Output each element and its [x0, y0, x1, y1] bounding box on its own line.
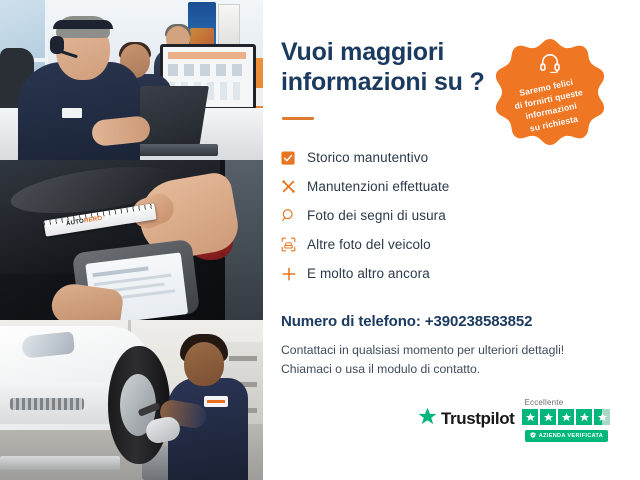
contact-description-line-1: Contattaci in qualsiasi momento per ulte…	[281, 341, 581, 360]
contact-description-line-2: Chiamaci o usa il modulo di contatto.	[281, 360, 581, 379]
trustpilot-star-icon	[418, 407, 437, 431]
photo1-monitor-row-1	[168, 64, 246, 76]
trustpilot-rating: Eccellente	[522, 398, 610, 442]
trustpilot-star-1	[522, 409, 538, 425]
title-divider	[282, 117, 314, 120]
page-title: Vuoi maggiori informazioni su ?	[281, 38, 511, 97]
page-title-line-2: informazioni su ?	[281, 68, 511, 98]
request-info-badge: Saremo felici di fornirti queste informa…	[495, 37, 605, 147]
photo-column: AUTOHERO	[0, 0, 263, 480]
ruler-logo-auto: AUTO	[66, 219, 85, 228]
feature-list: Storico manutentivo Manutenzioni effettu…	[281, 143, 531, 288]
technician-wheel-inspection-photo	[0, 320, 263, 480]
feature-item-molto-altro: E molto altro ancora	[281, 259, 531, 288]
feature-label: Manutenzioni effettuate	[307, 179, 449, 194]
photo1-agent-headset-band	[53, 20, 113, 29]
photo3-shelf-line-1	[229, 356, 257, 361]
checkbox-checked-icon	[281, 151, 307, 165]
trustpilot-star-5-half	[594, 409, 610, 425]
plus-icon	[281, 266, 307, 282]
verified-label: AZIENDA VERIFICATA	[539, 433, 603, 439]
feature-item-foto-segni-usura: Foto dei segni di usura	[281, 201, 531, 230]
autohero-ruler-inspection-photo: AUTOHERO	[0, 160, 263, 320]
feature-item-manutenzioni-effettuate: Manutenzioni effettuate	[281, 172, 531, 201]
headset-icon	[539, 53, 561, 78]
photo3-technician-logo	[204, 396, 228, 407]
photo3-lift-ramp	[0, 456, 120, 470]
tools-wrench-screwdriver-icon	[281, 179, 307, 194]
feature-item-storico-manutentivo: Storico manutentivo	[281, 143, 531, 172]
promo-banner: AUTOHERO	[0, 0, 640, 480]
trustpilot-stars	[522, 409, 610, 425]
trustpilot-logo: Trustpilot	[418, 407, 514, 431]
trustpilot-widget[interactable]: Trustpilot Eccellente	[418, 398, 610, 442]
content-panel: Vuoi maggiori informazioni su ? Saremo f…	[263, 0, 640, 480]
verified-shield-icon	[530, 432, 536, 440]
trustpilot-star-3	[558, 409, 574, 425]
trustpilot-wordmark: Trustpilot	[441, 409, 514, 429]
photo3-technician-head	[184, 342, 224, 386]
feature-label: E molto altro ancora	[307, 266, 430, 281]
trustpilot-rating-label: Eccellente	[524, 398, 563, 407]
status-badge: AZIENDA VERIFICATA	[525, 430, 608, 442]
magnifier-icon	[281, 208, 307, 223]
trustpilot-star-2	[540, 409, 556, 425]
phone-number-label[interactable]: Numero di telefono: +390238583852	[281, 313, 532, 330]
feature-item-altre-foto-veicolo: Altre foto del veicolo	[281, 230, 531, 259]
feature-label: Altre foto del veicolo	[307, 237, 431, 252]
page-title-line-1: Vuoi maggiori	[281, 38, 511, 68]
photo1-monitor-header	[168, 52, 246, 59]
feature-label: Storico manutentivo	[307, 150, 428, 165]
scan-car-icon	[281, 237, 307, 252]
photo3-grille	[10, 398, 84, 410]
ruler-logo-hero: HERO	[84, 216, 103, 225]
contact-description: Contattaci in qualsiasi momento per ulte…	[281, 341, 581, 379]
feature-label: Foto dei segni di usura	[307, 208, 446, 223]
trustpilot-star-4	[576, 409, 592, 425]
photo1-agent-name-badge	[62, 108, 82, 118]
call-center-agent-photo	[0, 0, 263, 160]
